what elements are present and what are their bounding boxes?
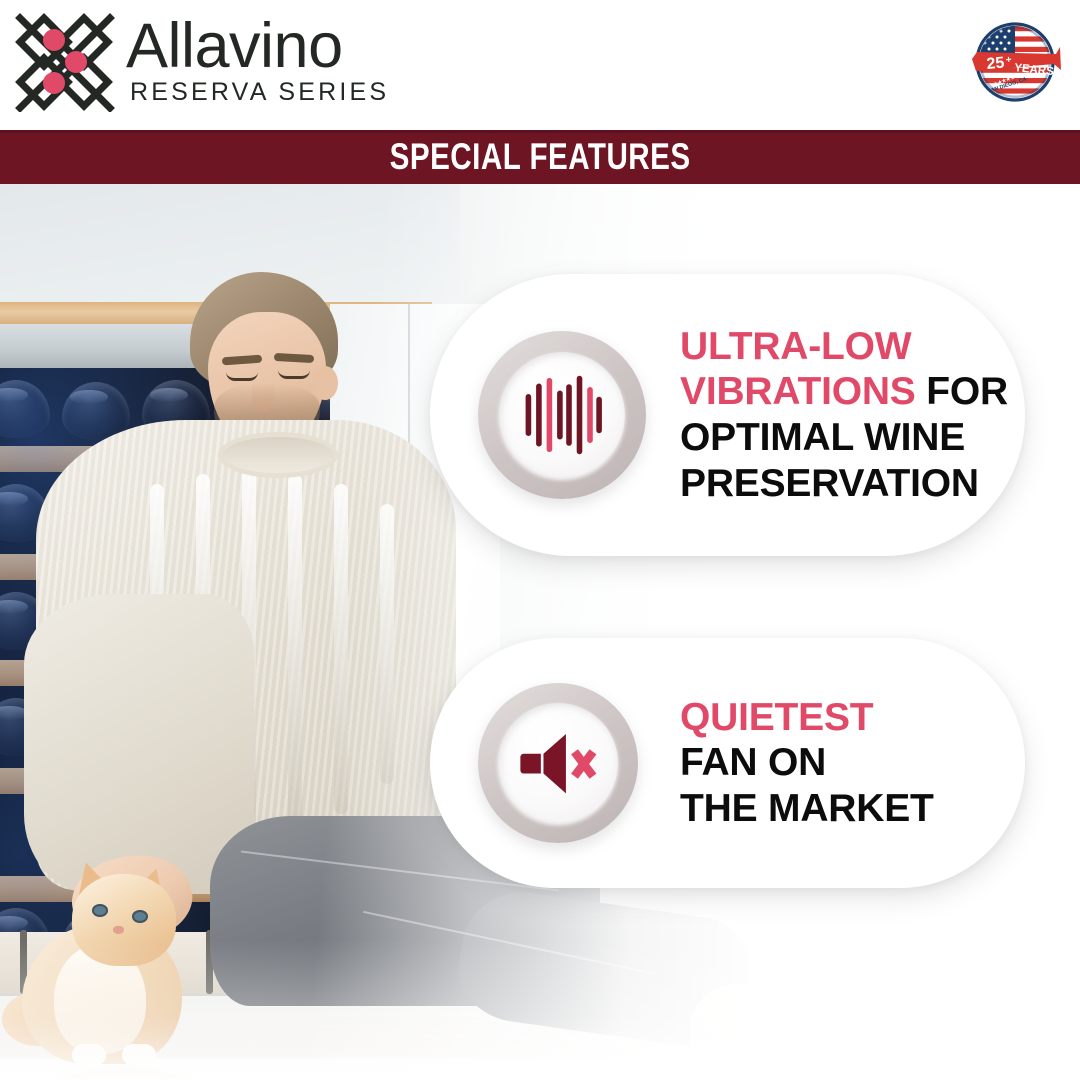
sneaker-panel xyxy=(770,1000,880,1046)
cat-paw xyxy=(122,1044,156,1066)
card1-line2-plain: FOR xyxy=(916,370,1008,413)
feature-card-quietest-fan[interactable]: QUIETEST FAN ON THE MARKET xyxy=(430,638,1025,888)
feature-card-ultra-low-vibrations[interactable]: ULTRA-LOW VIBRATIONS FOR OPTIMAL WINE PR… xyxy=(430,274,1025,556)
icon-inner-disc xyxy=(498,703,618,823)
cat-eye-left xyxy=(92,904,108,917)
cat-paw xyxy=(72,1044,106,1066)
feature-card-2-text: QUIETEST FAN ON THE MARKET xyxy=(680,695,934,832)
sneaker-sole xyxy=(690,1046,930,1076)
card1-line2-highlight: VIBRATIONS xyxy=(680,370,916,413)
icon-badge xyxy=(478,683,638,843)
eye-left xyxy=(226,372,258,381)
banner-title: SPECIAL FEATURES xyxy=(389,136,690,178)
ear xyxy=(312,366,338,400)
brand-series: RESERVA SERIES xyxy=(130,78,389,107)
card2-line1-highlight: QUIETEST xyxy=(680,696,873,739)
cat xyxy=(14,874,234,1074)
card1-line1-highlight: ULTRA-LOW xyxy=(680,325,911,368)
marketing-graphic: Allavino RESERVA SERIES xyxy=(0,0,1080,1080)
banner-top-edge xyxy=(0,130,1080,133)
icon-badge xyxy=(478,331,646,499)
card1-line3: OPTIMAL WINE xyxy=(680,416,965,459)
cat-nose xyxy=(113,926,124,934)
badge-years: 25 xyxy=(986,54,1005,72)
speaker-mute-icon xyxy=(518,730,598,796)
special-features-banner: SPECIAL FEATURES xyxy=(0,130,1080,184)
vibration-waveform-icon xyxy=(520,373,604,457)
nose xyxy=(252,382,274,412)
sweater-collar xyxy=(218,432,338,478)
card1-line4: PRESERVATION xyxy=(680,462,979,505)
brand-name: Allavino xyxy=(126,17,389,77)
card2-line2: FAN ON xyxy=(680,741,826,784)
header: Allavino RESERVA SERIES xyxy=(0,0,1080,130)
icon-inner-disc xyxy=(499,352,625,478)
brand-logo: Allavino RESERVA SERIES xyxy=(14,12,389,112)
usa-flag-seal-badge-icon: ★★★★★ SAN DIEGO, CA 25 + YEARS xyxy=(964,14,1066,116)
brand-wordmark: Allavino RESERVA SERIES xyxy=(126,17,389,108)
badge-plus: + xyxy=(1005,55,1012,66)
feature-card-1-text: ULTRA-LOW VIBRATIONS FOR OPTIMAL WINE PR… xyxy=(680,324,1008,507)
eye-right xyxy=(278,370,310,379)
card2-line3: THE MARKET xyxy=(680,787,934,830)
allavino-lattice-logo-icon xyxy=(14,12,118,112)
cat-head xyxy=(72,874,176,966)
cat-eye-right xyxy=(132,910,148,923)
